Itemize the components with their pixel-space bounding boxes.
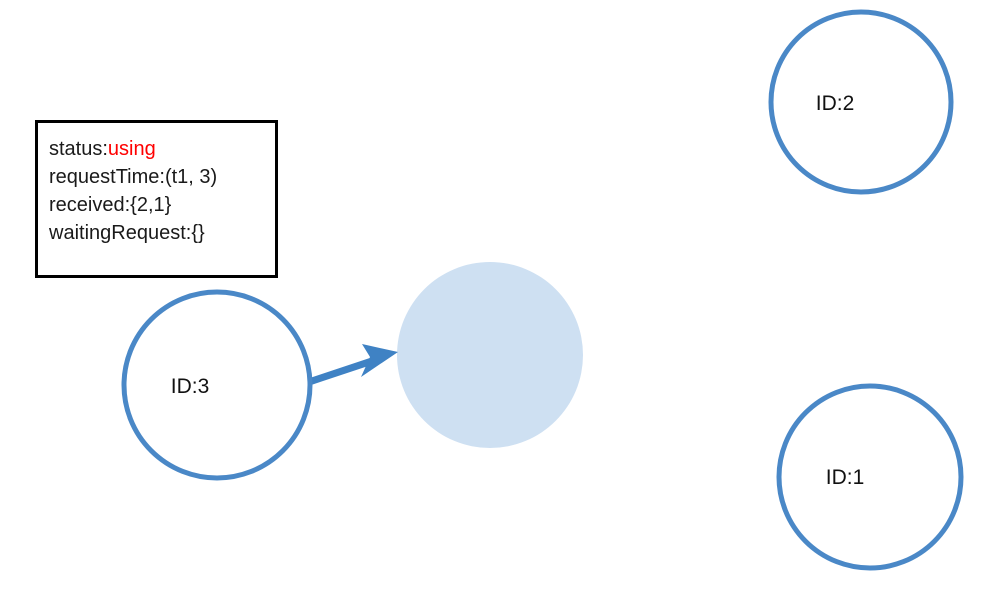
state-line-request-time: requestTime:(t1, 3)	[49, 163, 271, 191]
process-state-lines: status:using requestTime:(t1, 3) receive…	[49, 135, 271, 247]
node-id-1-circle	[779, 386, 961, 568]
diagram-canvas: ID:3 ID:2 ID:1 status:using requestTime:…	[0, 0, 1008, 590]
node-id-1[interactable]: ID:1	[779, 386, 961, 568]
node-id-2[interactable]: ID:2	[771, 12, 951, 192]
node-id-2-label: ID:2	[816, 92, 855, 115]
edge-node3-to-resource[interactable]	[309, 344, 398, 382]
state-line-status: status:using	[49, 135, 271, 163]
node-id-3[interactable]: ID:3	[124, 292, 310, 478]
node-id-1-label: ID:1	[826, 466, 865, 489]
state-value-waiting-request: {}	[191, 222, 204, 244]
node-id-2-circle	[771, 12, 951, 192]
diagram-graphics: ID:3 ID:2 ID:1	[0, 0, 1008, 590]
state-line-waiting-request: waitingRequest:{}	[49, 219, 271, 247]
state-key-request-time: requestTime:	[49, 166, 165, 188]
process-state-box: status:using requestTime:(t1, 3) receive…	[35, 120, 278, 278]
state-key-received: received:	[49, 194, 130, 216]
state-key-status: status:	[49, 138, 108, 160]
state-line-received: received:{2,1}	[49, 191, 271, 219]
state-value-received: {2,1}	[130, 194, 171, 216]
node-id-3-label: ID:3	[171, 375, 210, 398]
state-key-waiting-request: waitingRequest:	[49, 222, 191, 244]
state-value-status: using	[108, 138, 156, 160]
edge-line	[309, 361, 372, 382]
node-id-3-circle	[124, 292, 310, 478]
state-value-request-time: (t1, 3)	[165, 166, 217, 188]
resource-node-circle[interactable]	[397, 262, 583, 448]
